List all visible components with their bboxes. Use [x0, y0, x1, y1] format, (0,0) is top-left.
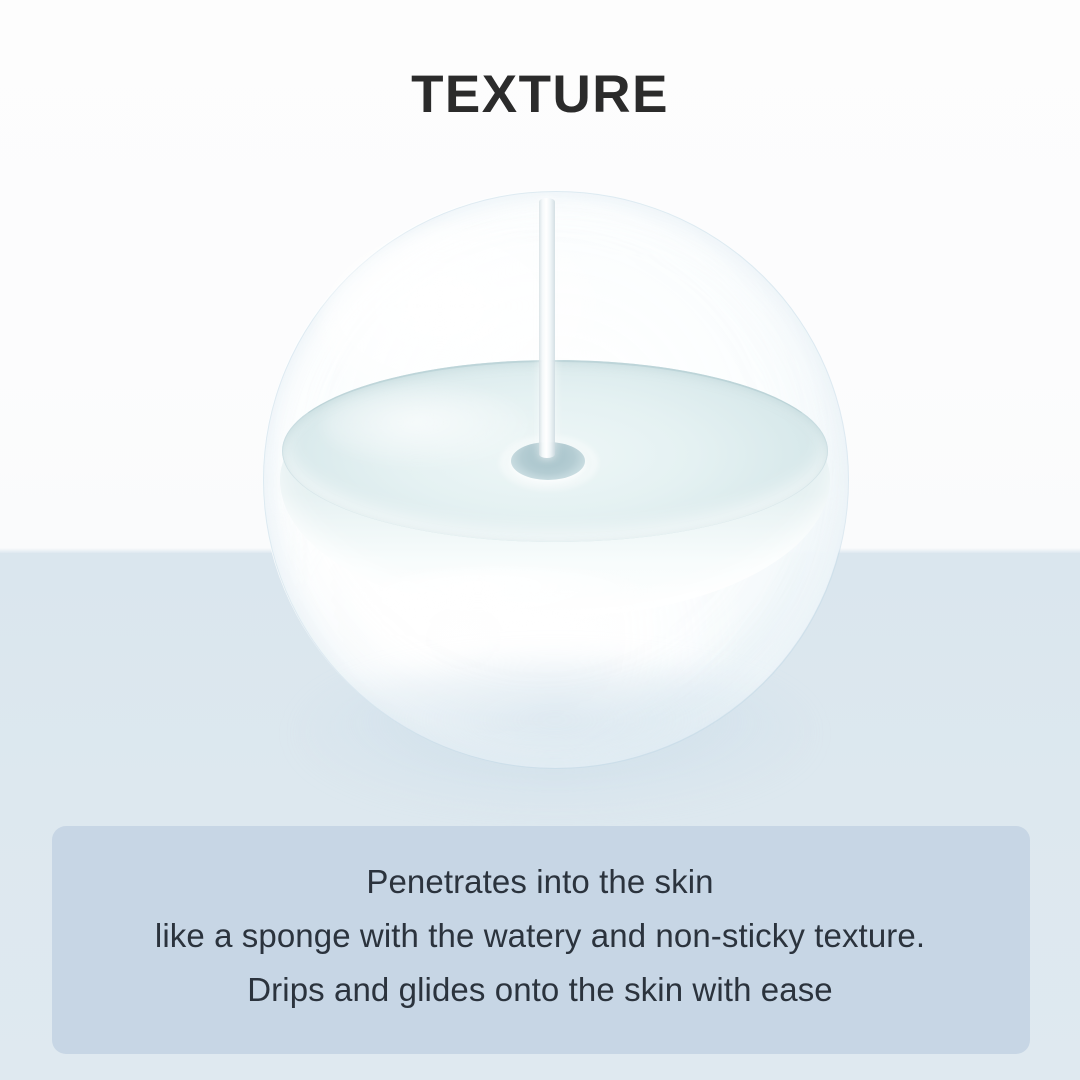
- serum-drop-sphere-illustration: [262, 190, 848, 775]
- caption-line-1: Penetrates into the skin: [40, 855, 1040, 909]
- caption-text: Penetrates into the skin like a sponge w…: [40, 855, 1040, 1017]
- liquid-disc-rim-highlight: [358, 568, 658, 628]
- pour-stream: [539, 198, 555, 458]
- caption-line-2: like a sponge with the watery and non-st…: [40, 909, 1040, 963]
- page-title: TEXTURE: [0, 68, 1080, 121]
- liquid-surface-highlight: [322, 386, 532, 466]
- texture-infographic: TEXTURE Penetrates into the skin like a …: [0, 0, 1080, 1080]
- sphere-drop-shadow: [302, 660, 808, 810]
- caption-line-3: Drips and glides onto the skin with ease: [40, 963, 1040, 1017]
